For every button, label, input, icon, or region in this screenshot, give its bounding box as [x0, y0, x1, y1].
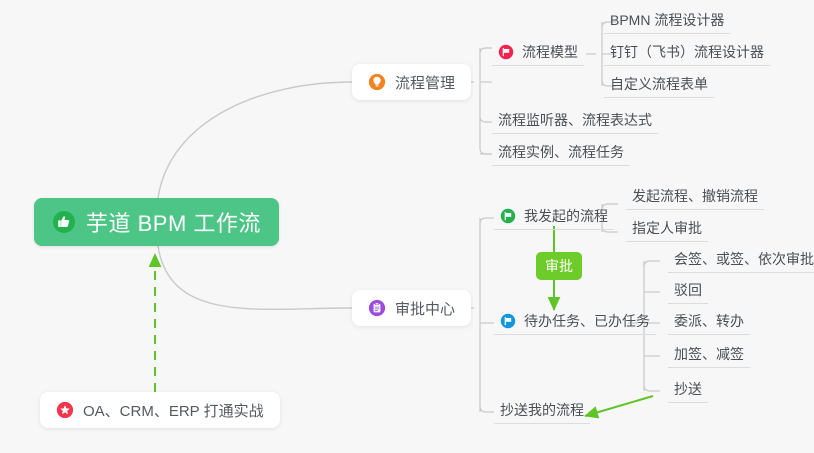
badge-approval: 审批: [536, 252, 582, 280]
node-label-carbon-copy: 抄送: [674, 379, 702, 399]
badge-approval-label: 审批: [545, 256, 573, 276]
node-bpmn-designer[interactable]: BPMN 流程设计器: [604, 10, 730, 34]
node-instance-task[interactable]: 流程实例、流程任务: [492, 142, 630, 166]
node-dingtalk-feishu-designer[interactable]: 钉钉（飞书）流程设计器: [604, 42, 770, 66]
flag-green-icon: [500, 208, 516, 224]
node-cc-to-me-process[interactable]: 抄送我的流程: [494, 400, 590, 424]
link-todo-stub-1: [644, 261, 660, 267]
node-listener-expression[interactable]: 流程监听器、流程表达式: [492, 110, 658, 134]
branch-node-approval-center[interactable]: 审批中心: [352, 290, 471, 326]
node-label-reject: 驳回: [674, 280, 702, 300]
arrow-carbon-copy-to-cc-process: [585, 396, 653, 416]
node-process-model[interactable]: 流程模型: [492, 42, 584, 66]
flag-red-icon: [498, 44, 514, 60]
link-approval-center-stub-3: [480, 406, 494, 412]
node-carbon-copy[interactable]: 抄送: [668, 379, 708, 403]
node-label-todo-done-task: 待办任务、已办任务: [524, 311, 650, 331]
branch-label-approval-center: 审批中心: [395, 298, 455, 319]
node-label-sign-modes: 会签、或签、依次审批: [674, 249, 814, 269]
mindmap-canvas: 芋道 BPM 工作流 OA、CRM、ERP 打通实战 流程管理: [0, 0, 814, 453]
branch-label-process-management: 流程管理: [395, 72, 455, 93]
node-label-delegate-transfer: 委派、转办: [674, 311, 744, 331]
node-label-start-cancel-process: 发起流程、撤销流程: [632, 186, 758, 206]
root-label: 芋道 BPM 工作流: [86, 206, 261, 238]
link-root-to-approval-center: [158, 246, 352, 309]
node-add-remove-sign[interactable]: 加签、减签: [668, 344, 750, 368]
flag-blue-icon: [500, 313, 516, 329]
node-todo-done-task[interactable]: 待办任务、已办任务: [494, 311, 656, 335]
node-label-my-started-process: 我发起的流程: [524, 206, 608, 226]
footnote-node[interactable]: OA、CRM、ERP 打通实战: [40, 392, 280, 428]
node-label-listener-expression: 流程监听器、流程表达式: [498, 110, 652, 130]
star-icon: [56, 401, 74, 419]
clipboard-icon: [368, 299, 386, 317]
node-assignee-approval[interactable]: 指定人审批: [626, 218, 708, 242]
lightbulb-icon: [368, 73, 386, 91]
node-sign-modes[interactable]: 会签、或签、依次审批: [668, 249, 814, 273]
node-label-process-model: 流程模型: [522, 42, 578, 62]
link-approval-center-stub-1: [480, 218, 494, 224]
node-label-cc-to-me-process: 抄送我的流程: [500, 400, 584, 420]
node-custom-process-form[interactable]: 自定义流程表单: [604, 74, 714, 98]
link-process-model-trunk: [586, 22, 602, 86]
footnote-label: OA、CRM、ERP 打通实战: [83, 400, 264, 421]
link-process-management-trunk-ext: [480, 122, 492, 154]
node-reject[interactable]: 驳回: [668, 280, 708, 304]
node-label-instance-task: 流程实例、流程任务: [498, 142, 624, 162]
thumbs-up-icon: [52, 210, 76, 234]
node-label-add-remove-sign: 加签、减签: [674, 344, 744, 364]
node-label-bpmn-designer: BPMN 流程设计器: [610, 10, 724, 30]
root-node[interactable]: 芋道 BPM 工作流: [34, 198, 279, 246]
branch-node-process-management[interactable]: 流程管理: [352, 64, 471, 100]
node-label-dingtalk-feishu-designer: 钉钉（飞书）流程设计器: [610, 42, 764, 62]
node-label-assignee-approval: 指定人审批: [632, 218, 702, 238]
node-my-started-process[interactable]: 我发起的流程: [494, 206, 614, 230]
link-todo-stub-5: [644, 385, 660, 391]
link-root-to-process-management: [158, 82, 352, 198]
node-delegate-transfer[interactable]: 委派、转办: [668, 311, 750, 335]
node-start-cancel-process[interactable]: 发起流程、撤销流程: [626, 186, 764, 210]
node-label-custom-process-form: 自定义流程表单: [610, 74, 708, 94]
